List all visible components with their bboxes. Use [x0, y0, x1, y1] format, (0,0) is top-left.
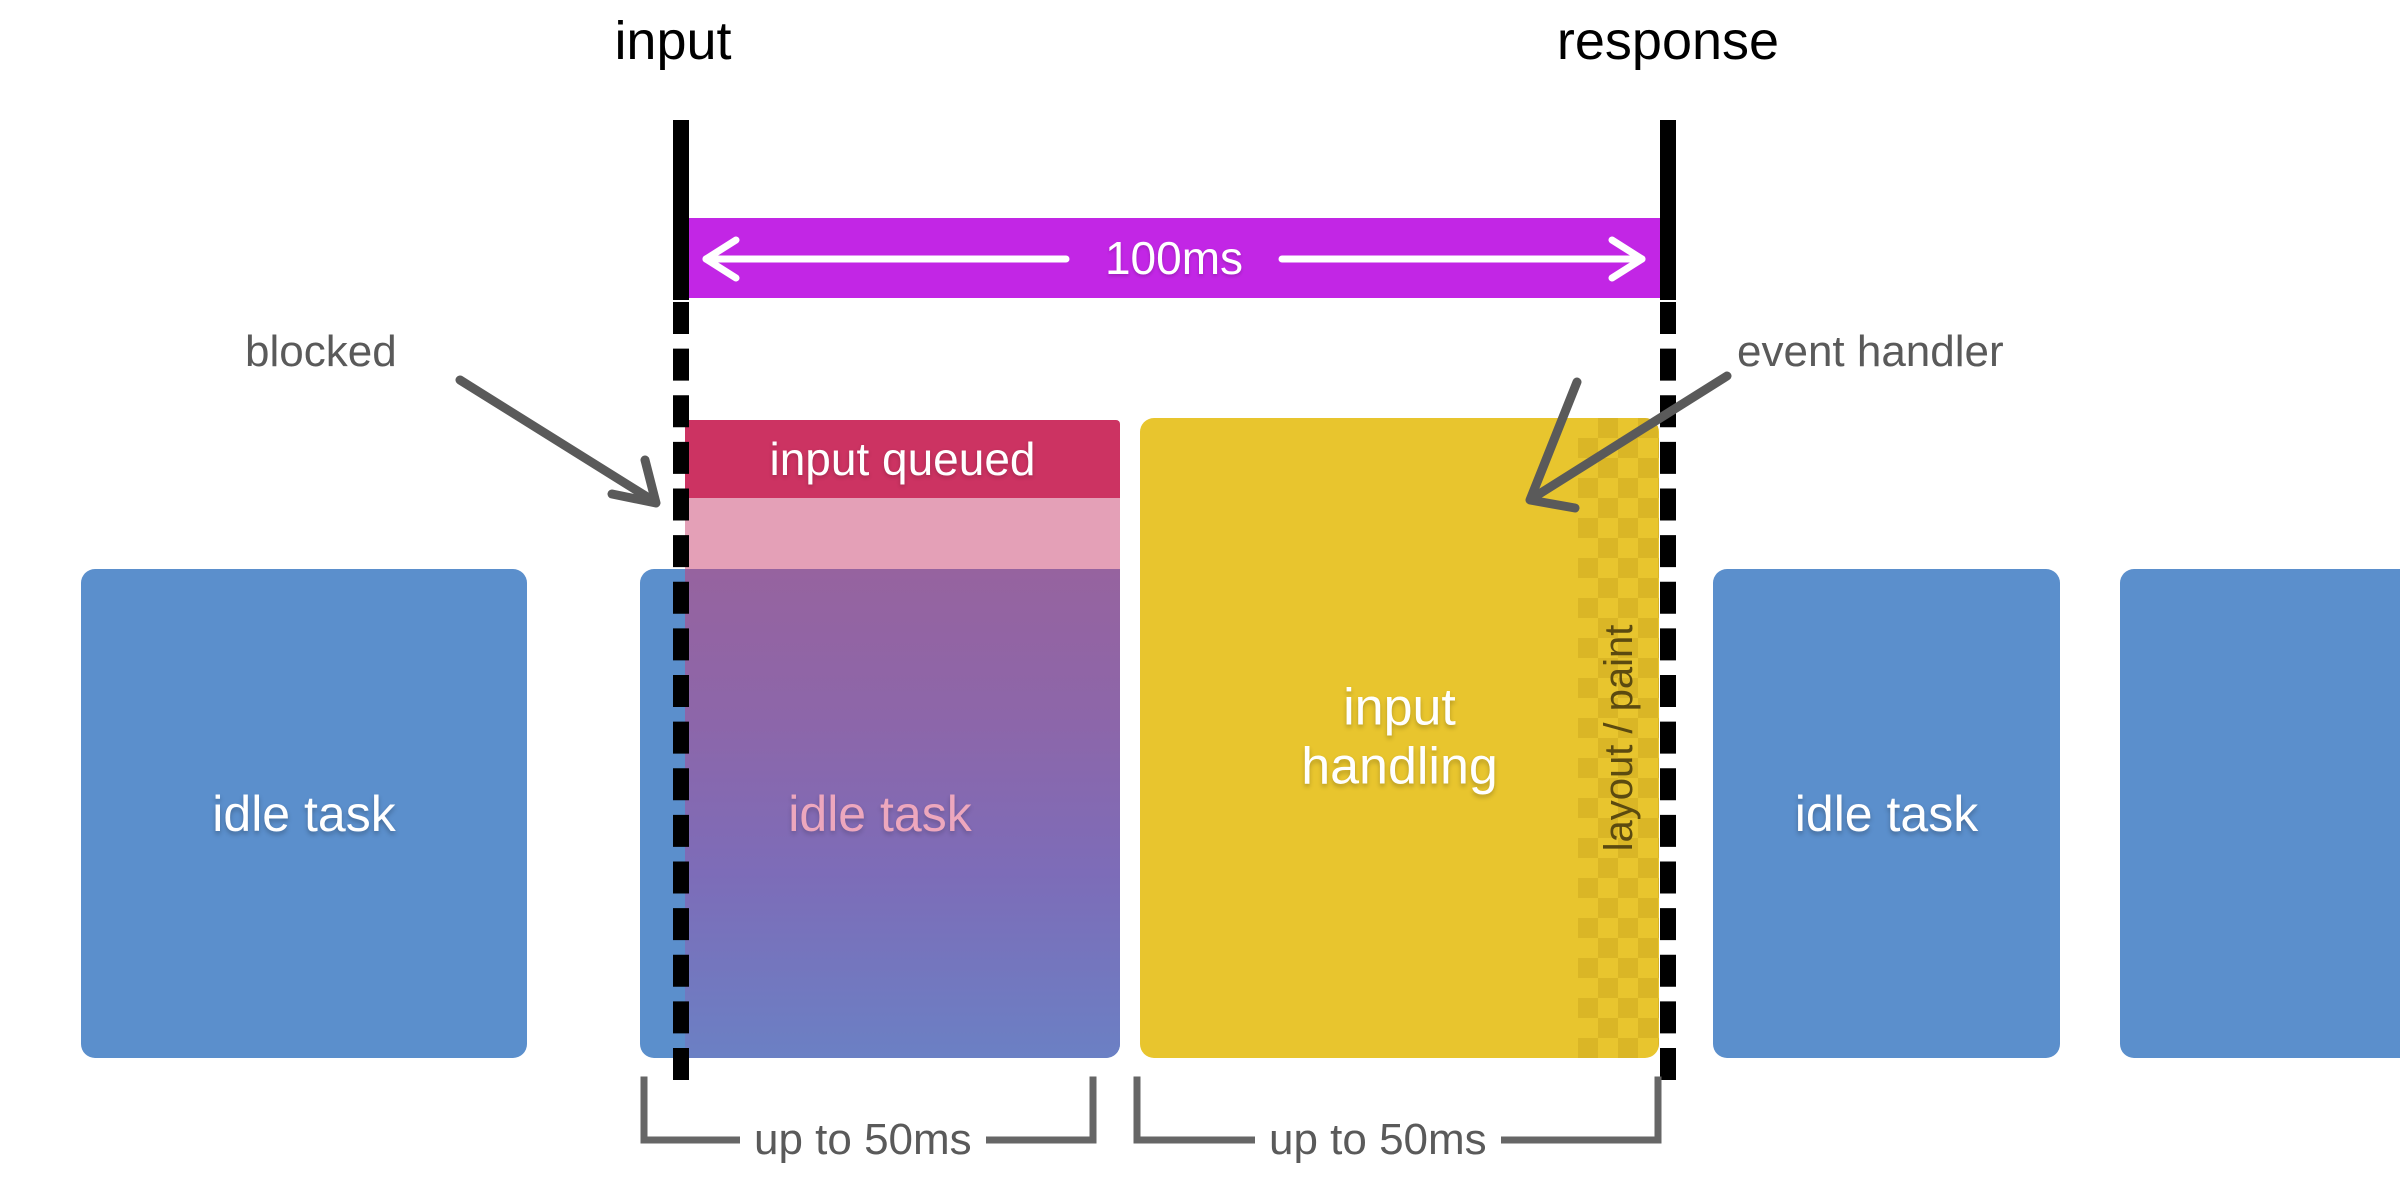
measure-bracket-right-icon: [0, 0, 2400, 1200]
measure-label-right: up to 50ms: [1255, 1118, 1501, 1162]
diagram-canvas: input response idle task input queued id…: [0, 0, 2400, 1200]
